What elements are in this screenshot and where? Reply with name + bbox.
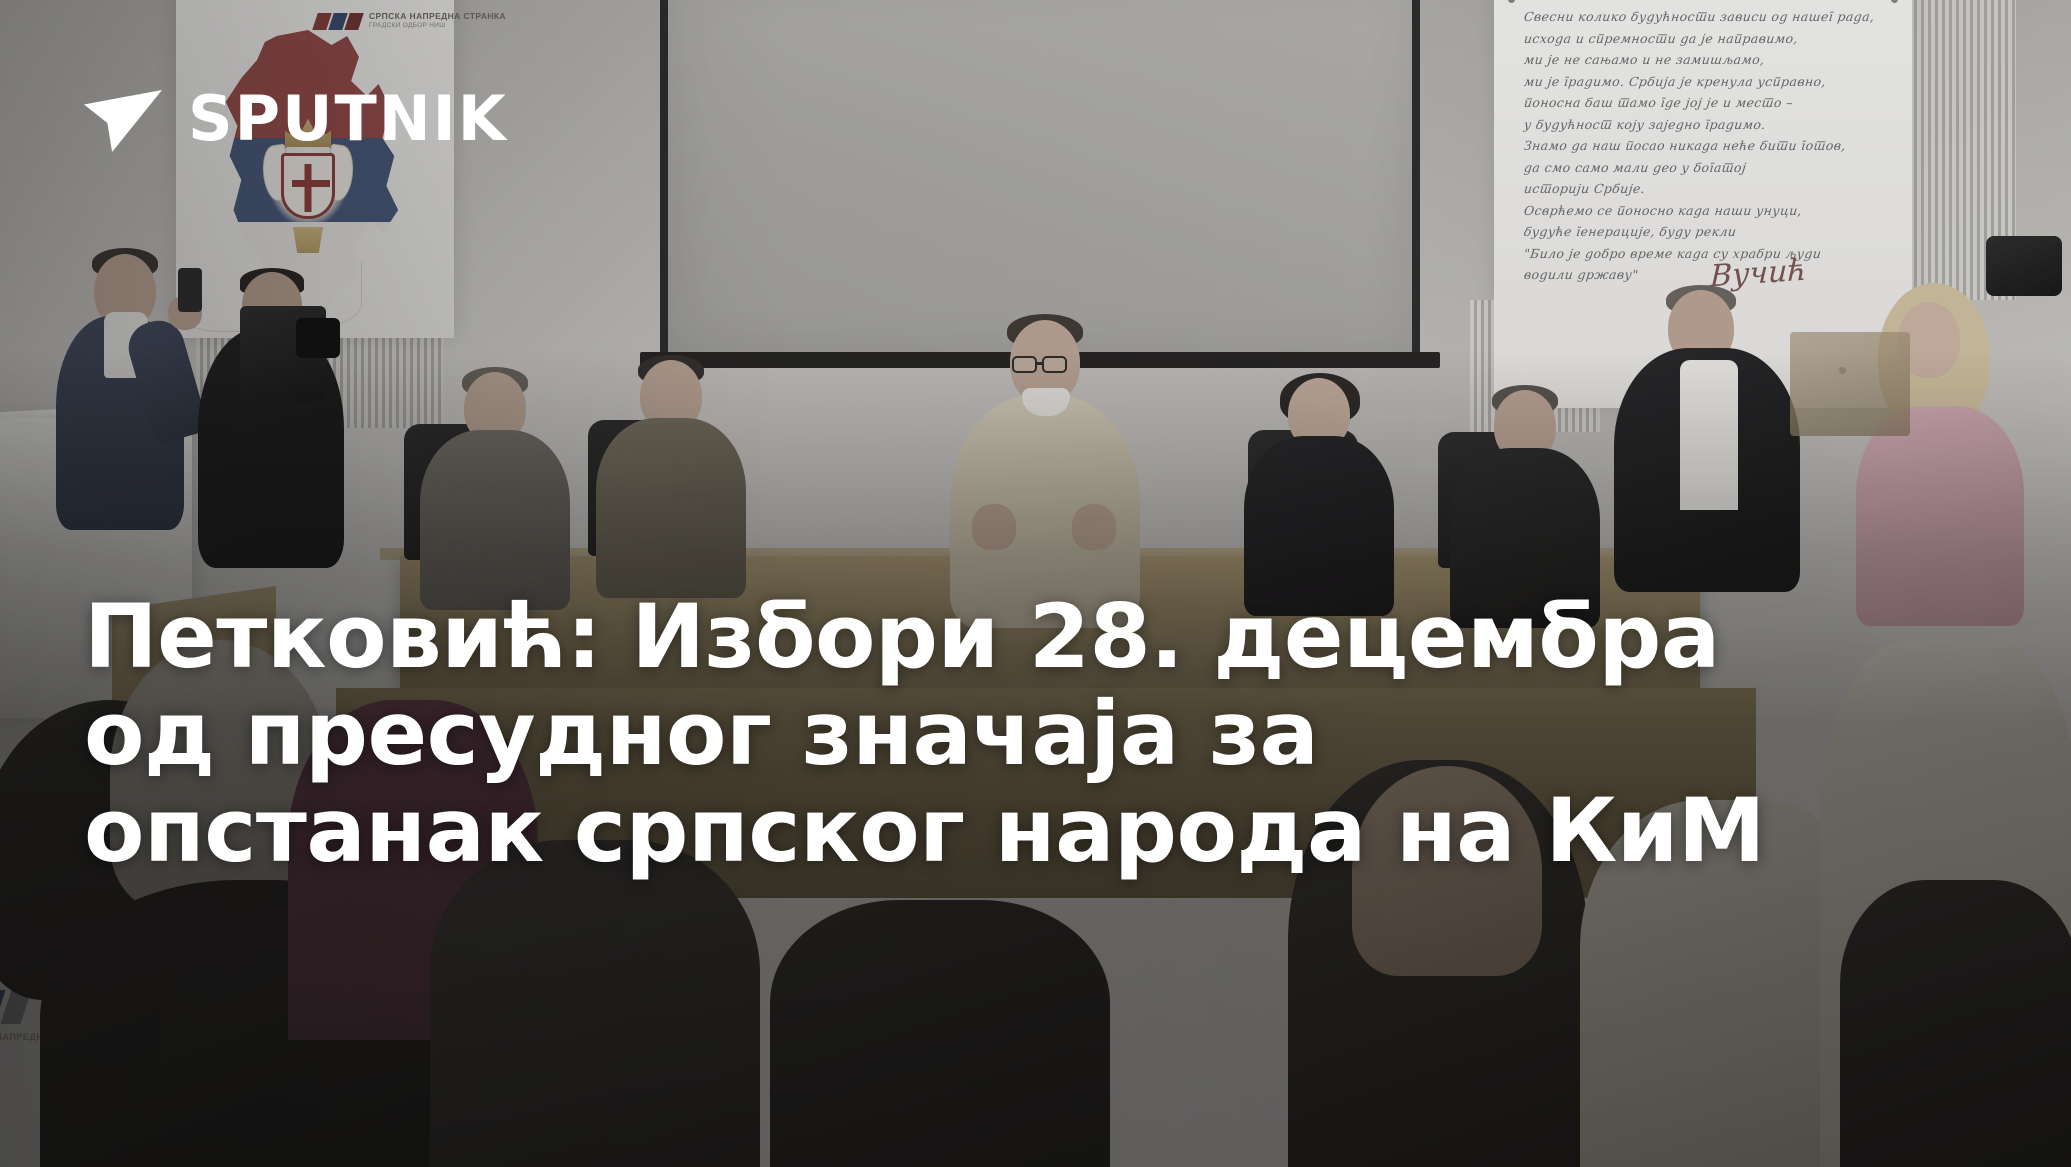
news-photo: СРПСКА НАПРЕДНА СТРАНКА ГРАДСКИ ОДБОР НИ… [0,0,2071,1167]
sputnik-arrow-icon [84,86,162,152]
sputnik-news-card: СРПСКА НАПРЕДНА СТРАНКА ГРАДСКИ ОДБОР НИ… [0,0,2071,1167]
headline-line-1: Петковић: Избори 28. децембра [84,588,2014,685]
headline: Петковић: Избори 28. децембра од пресудн… [84,588,2014,879]
photo-scrim-horizontal [0,0,2071,1167]
headline-line-2: од пресудног значаја за [84,685,2014,782]
sputnik-logo[interactable]: SPUTNIK [84,86,508,152]
headline-line-3: опстанак српског народа на КиМ [84,782,2014,879]
sputnik-wordmark: SPUTNIK [188,88,508,150]
